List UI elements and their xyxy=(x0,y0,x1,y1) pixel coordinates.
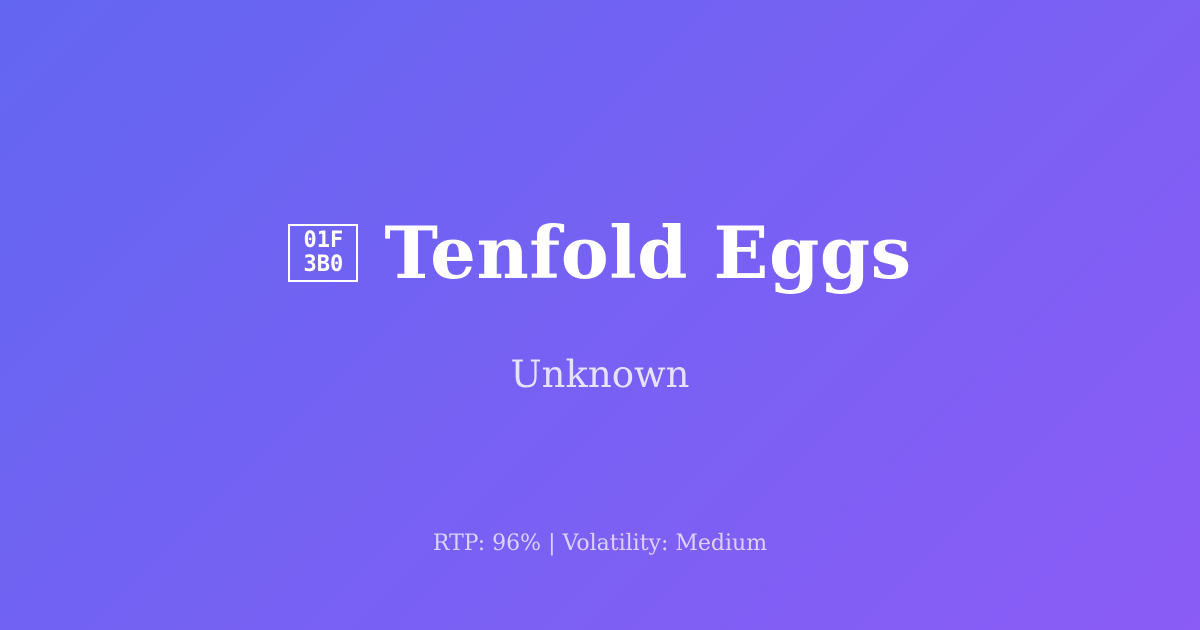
slot-machine-icon: 01F 3B0 xyxy=(288,224,358,282)
page-title: Tenfold Eggs xyxy=(384,215,911,291)
tofu-hex-bottom: 3B0 xyxy=(303,253,343,277)
share-card: 01F 3B0 Tenfold Eggs Unknown RTP: 96% | … xyxy=(0,0,1200,630)
tofu-hex-top: 01F xyxy=(303,229,343,253)
game-provider-subtitle: Unknown xyxy=(510,353,689,397)
title-row: 01F 3B0 Tenfold Eggs xyxy=(288,215,911,291)
game-meta-line: RTP: 96% | Volatility: Medium xyxy=(0,531,1200,557)
